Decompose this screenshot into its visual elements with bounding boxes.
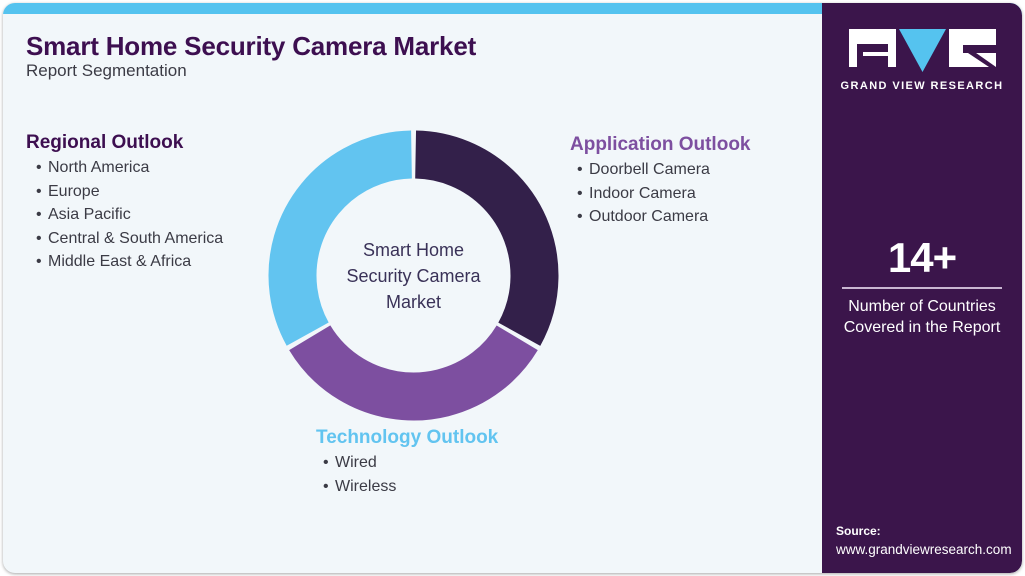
list-item: North America	[36, 156, 223, 180]
side-panel: GRAND VIEW RESEARCH 14+ Number of Countr…	[822, 3, 1022, 573]
source-block: Source: www.grandviewresearch.com	[836, 523, 1022, 559]
list-item: Wired	[323, 451, 498, 475]
main-content-area: Smart Home Security Camera Market Report…	[3, 14, 822, 573]
donut-center-label: Smart Home Security Camera Market	[268, 130, 559, 421]
list-item: Doorbell Camera	[577, 158, 751, 182]
brand-logo: GRAND VIEW RESEARCH	[822, 29, 1022, 92]
list-item: Wireless	[323, 475, 498, 499]
application-outlook-block: Application Outlook Doorbell Camera Indo…	[570, 134, 751, 229]
donut-center-line-2: Security Camera	[346, 263, 480, 289]
stat-label-line-2: Covered in the Report	[822, 317, 1022, 338]
source-title: Source:	[836, 523, 1022, 540]
technology-outlook-heading: Technology Outlook	[316, 427, 498, 449]
stat-label-line-1: Number of Countries	[822, 296, 1022, 317]
infographic-root: Smart Home Security Camera Market Report…	[0, 0, 1025, 576]
regional-outlook-block: Regional Outlook North America Europe As…	[26, 132, 223, 274]
list-item: Indoor Camera	[577, 182, 751, 206]
list-item: Europe	[36, 180, 223, 204]
infographic-card: Smart Home Security Camera Market Report…	[3, 3, 1022, 573]
source-url[interactable]: www.grandviewresearch.com	[836, 540, 1022, 559]
list-item: Middle East & Africa	[36, 250, 223, 274]
stat-value: 14+	[822, 235, 1022, 281]
list-item: Asia Pacific	[36, 203, 223, 227]
logo-r-icon	[949, 29, 996, 67]
logo-wordmark: GRAND VIEW RESEARCH	[841, 80, 1004, 92]
stat-divider	[842, 287, 1002, 289]
donut-chart: Smart Home Security Camera Market	[268, 130, 559, 421]
stat-block: 14+ Number of Countries Covered in the R…	[822, 235, 1022, 338]
regional-outlook-list: North America Europe Asia Pacific Centra…	[26, 156, 223, 274]
logo-g-icon	[849, 29, 896, 67]
application-outlook-heading: Application Outlook	[570, 134, 751, 156]
technology-outlook-block: Technology Outlook Wired Wireless	[316, 427, 498, 498]
logo-v-icon	[899, 29, 946, 72]
list-item: Central & South America	[36, 227, 223, 251]
application-outlook-list: Doorbell Camera Indoor Camera Outdoor Ca…	[570, 158, 751, 229]
regional-outlook-heading: Regional Outlook	[26, 132, 223, 154]
page-title: Smart Home Security Camera Market	[26, 31, 476, 62]
donut-center-line-1: Smart Home	[363, 237, 464, 263]
list-item: Outdoor Camera	[577, 205, 751, 229]
logo-marks	[849, 29, 996, 72]
page-subtitle: Report Segmentation	[26, 61, 187, 81]
technology-outlook-list: Wired Wireless	[316, 451, 498, 498]
donut-center-line-3: Market	[386, 289, 441, 315]
